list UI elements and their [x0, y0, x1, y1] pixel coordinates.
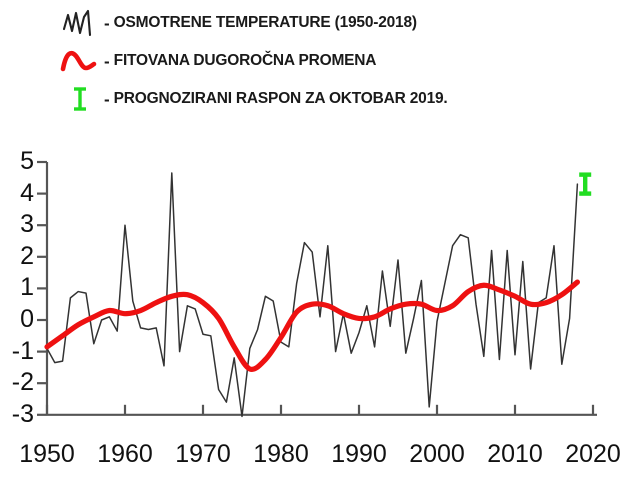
plot-area	[0, 126, 640, 473]
legend-item-forecast: - PROGNOZIRANI RASPON ZA OKTOBAR 2019.	[58, 84, 448, 114]
temperature-anomaly-chart: - OSMOTRENE TEMPERATURE (1950-2018) - FI…	[0, 0, 640, 473]
x-axis-ticks	[47, 405, 593, 415]
legend-label-observed: OSMOTRENE TEMPERATURE (1950-2018)	[114, 15, 417, 31]
forecast-errorbar	[579, 175, 591, 194]
green-errorbar-icon	[58, 85, 102, 113]
legend-item-observed: - OSMOTRENE TEMPERATURE (1950-2018)	[58, 8, 417, 38]
x-tick-label: 1950	[19, 442, 75, 467]
jagged-line-icon	[58, 9, 102, 37]
chart-legend: - OSMOTRENE TEMPERATURE (1950-2018) - FI…	[0, 0, 640, 126]
red-wave-icon	[58, 47, 102, 75]
observed-temperature-series	[47, 173, 577, 416]
axis-lines	[47, 162, 597, 415]
legend-label-forecast: PROGNOZIRANI RASPON ZA OKTOBAR 2019.	[114, 91, 448, 107]
x-tick-label: 1960	[97, 442, 153, 467]
x-tick-label: 1980	[253, 442, 309, 467]
x-tick-label: 1990	[331, 442, 387, 467]
legend-dash-fitted: -	[104, 53, 110, 70]
x-tick-label: 2020	[565, 442, 621, 467]
legend-item-fitted: - FITOVANA DUGOROČNA PROMENA	[58, 46, 376, 76]
y-axis-ticks	[37, 162, 47, 415]
legend-dash-forecast: -	[104, 91, 110, 108]
x-axis-tick-labels: 19501960197019801990200020102020	[0, 440, 640, 473]
legend-dash-observed: -	[104, 15, 110, 32]
x-tick-label: 2010	[487, 442, 543, 467]
fitted-trend-series	[47, 282, 577, 369]
x-tick-label: 1970	[175, 442, 231, 467]
legend-label-fitted: FITOVANA DUGOROČNA PROMENA	[114, 53, 377, 69]
x-tick-label: 2000	[409, 442, 465, 467]
